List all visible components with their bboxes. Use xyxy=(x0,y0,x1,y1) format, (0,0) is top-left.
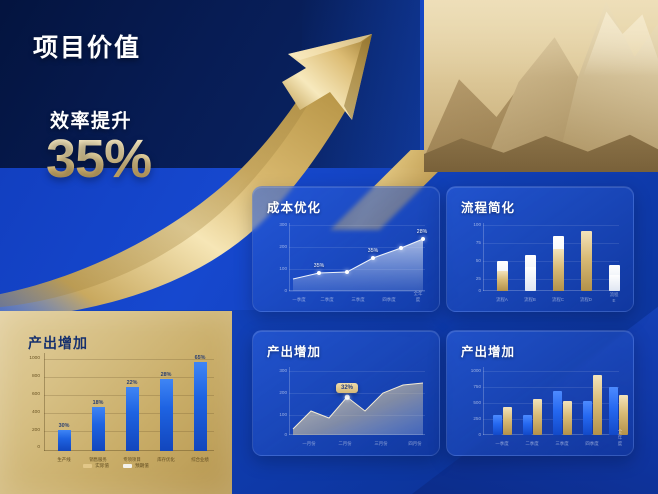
card-title: 产出增加 xyxy=(461,341,515,360)
x-tick: 流程C xyxy=(552,297,564,303)
chart-legend: 实际值 预期值 xyxy=(12,463,220,469)
x-tick: 二月份 xyxy=(338,441,351,447)
x-tick: 流程B xyxy=(524,297,536,303)
y-tick: 1000 xyxy=(12,356,40,361)
y-tick: 0 xyxy=(12,445,40,450)
bar-series-b xyxy=(563,401,572,435)
x-tick: 全年度 xyxy=(618,429,622,447)
bar-chart-gold-output-increase: 1000 800 600 400 200 0 30% 18% 22% 28% 6… xyxy=(12,353,220,463)
y-tick: 750 xyxy=(457,384,481,389)
page-title: 项目价值 xyxy=(33,28,141,64)
tooltip-badge: 32% xyxy=(336,383,358,393)
x-tick: 三月份 xyxy=(374,441,387,447)
x-tick: 三季度 xyxy=(555,441,568,447)
y-tick: 50 xyxy=(457,258,481,263)
y-tick: 400 xyxy=(12,410,40,415)
data-label: 28% xyxy=(417,229,427,235)
bar xyxy=(58,430,71,451)
card-output-increase-grouped[interactable]: 产出增加 1000 750 500 250 0 一季度 二季度 三季度 xyxy=(446,330,634,456)
x-tick: 四季度 xyxy=(585,441,598,447)
legend-swatch xyxy=(83,464,92,468)
bar-series-a xyxy=(583,401,592,435)
mountain-photo xyxy=(424,0,658,172)
bar-value xyxy=(609,275,620,291)
bar-value xyxy=(581,231,592,291)
y-tick: 500 xyxy=(457,400,481,405)
sepia-haze-overlay xyxy=(424,0,658,172)
x-tick: 全年度 xyxy=(413,291,424,303)
card-title: 产出增加 xyxy=(267,341,321,360)
y-tick: 250 xyxy=(457,416,481,421)
bar-series-b xyxy=(593,375,602,435)
x-tick: 二季度 xyxy=(525,441,538,447)
bar xyxy=(194,362,207,451)
legend-label: 预期值 xyxy=(135,463,149,469)
y-tick: 1000 xyxy=(457,368,481,373)
x-tick: 四季度 xyxy=(382,297,395,303)
data-point xyxy=(345,270,349,274)
x-tick: 二季度 xyxy=(320,297,333,303)
bar-value xyxy=(525,267,536,291)
y-tick: 0 xyxy=(457,288,481,293)
gold-panel-output-increase[interactable]: 产出增加 1000 800 600 400 200 0 30% 18% 22% … xyxy=(0,311,232,494)
data-label: 28% xyxy=(161,372,172,378)
data-point-highlight xyxy=(345,395,350,400)
slide-canvas: 项目价值 效率提升 35% xyxy=(0,0,658,494)
data-label: 65% xyxy=(195,355,206,361)
y-tick: 75 xyxy=(457,240,481,245)
bar-series-a xyxy=(553,391,562,435)
y-tick: 600 xyxy=(12,392,40,397)
bar-value xyxy=(553,249,564,291)
data-label: 18% xyxy=(93,400,104,406)
data-point xyxy=(371,256,375,260)
bar-series-b xyxy=(533,399,542,435)
bar-series-a xyxy=(609,387,618,435)
legend-label: 实际值 xyxy=(95,463,109,469)
y-tick: 800 xyxy=(12,374,40,379)
card-cost-optimization[interactable]: 成本优化 300 200 100 0 xyxy=(252,186,440,312)
data-label: 30% xyxy=(59,423,70,429)
data-point xyxy=(399,246,403,250)
card-process-simplification[interactable]: 流程简化 100 75 50 25 0 流程A 流程B 流程C 流程D xyxy=(446,186,634,312)
gold-panel-title: 产出增加 xyxy=(28,333,88,353)
y-tick: 0 xyxy=(457,432,481,437)
data-point xyxy=(421,237,425,241)
bar-series-a xyxy=(523,415,532,435)
card-title: 成本优化 xyxy=(267,197,321,216)
area-chart-output-increase: 300 200 100 0 32% 一月份 二月份 三月份 xyxy=(263,365,429,447)
legend-swatch xyxy=(123,464,132,468)
data-label: 35% xyxy=(314,263,324,269)
metric-value: 35% xyxy=(46,128,151,190)
x-tick: 一季度 xyxy=(495,441,508,447)
card-title: 流程简化 xyxy=(461,197,515,216)
bar xyxy=(126,387,139,451)
data-label: 35% xyxy=(368,248,378,254)
legend-item-0: 实际值 xyxy=(83,463,109,469)
x-tick: 一月份 xyxy=(302,441,315,447)
y-tick: 25 xyxy=(457,276,481,281)
bar-value xyxy=(497,271,508,291)
bar-series-b xyxy=(503,407,512,435)
bar-chart-process-simplification: 100 75 50 25 0 流程A 流程B 流程C 流程D 流程E xyxy=(457,221,623,303)
x-tick: 一季度 xyxy=(292,297,305,303)
legend-item-1: 预期值 xyxy=(123,463,149,469)
x-tick: 流程A xyxy=(496,297,508,303)
grouped-bar-chart-output-increase: 1000 750 500 250 0 一季度 二季度 三季度 四季度 全年度 xyxy=(457,365,623,447)
bar xyxy=(160,379,173,451)
line-chart-cost-optimization: 300 200 100 0 35% 35% 2 xyxy=(263,221,429,303)
bar xyxy=(92,407,105,451)
x-tick: 四月份 xyxy=(408,441,421,447)
data-point xyxy=(317,271,321,275)
y-tick: 200 xyxy=(12,428,40,433)
x-tick: 流程E xyxy=(610,292,619,303)
data-label: 22% xyxy=(127,380,138,386)
x-tick: 三季度 xyxy=(351,297,364,303)
card-output-increase-area[interactable]: 产出增加 300 200 100 0 xyxy=(252,330,440,456)
bar-series-a xyxy=(493,415,502,435)
y-tick: 100 xyxy=(457,222,481,227)
x-tick: 流程D xyxy=(580,297,592,303)
